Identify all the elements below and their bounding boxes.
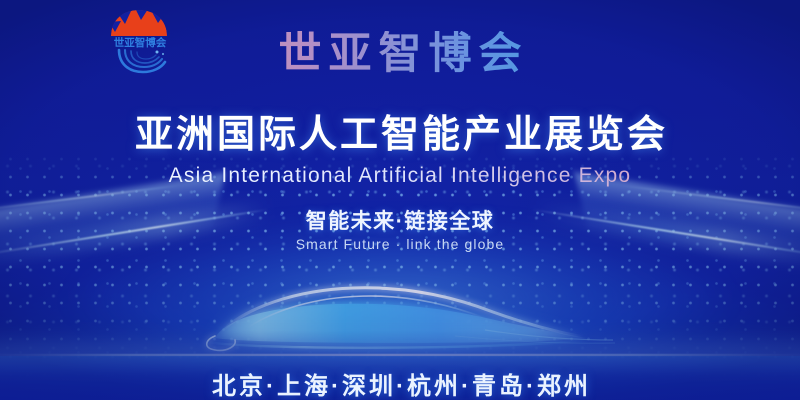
slogan-en: Smart Future · link the globe [0,236,800,252]
page-title: 世亚智博会 [0,31,800,77]
event-name-en: Asia International Artificial Intelligen… [0,164,800,188]
event-name-cn: 亚洲国际人工智能产业展览会 [0,103,800,158]
city-list: 北京·上海·深圳·杭州·青岛·郑州 [0,366,800,400]
slogan-cn: 智能未来·链接全球 [0,205,800,235]
event-banner: 世亚智博会 世亚智博会 亚洲国际人工智能产业展览会 Asia Internati… [0,0,800,400]
